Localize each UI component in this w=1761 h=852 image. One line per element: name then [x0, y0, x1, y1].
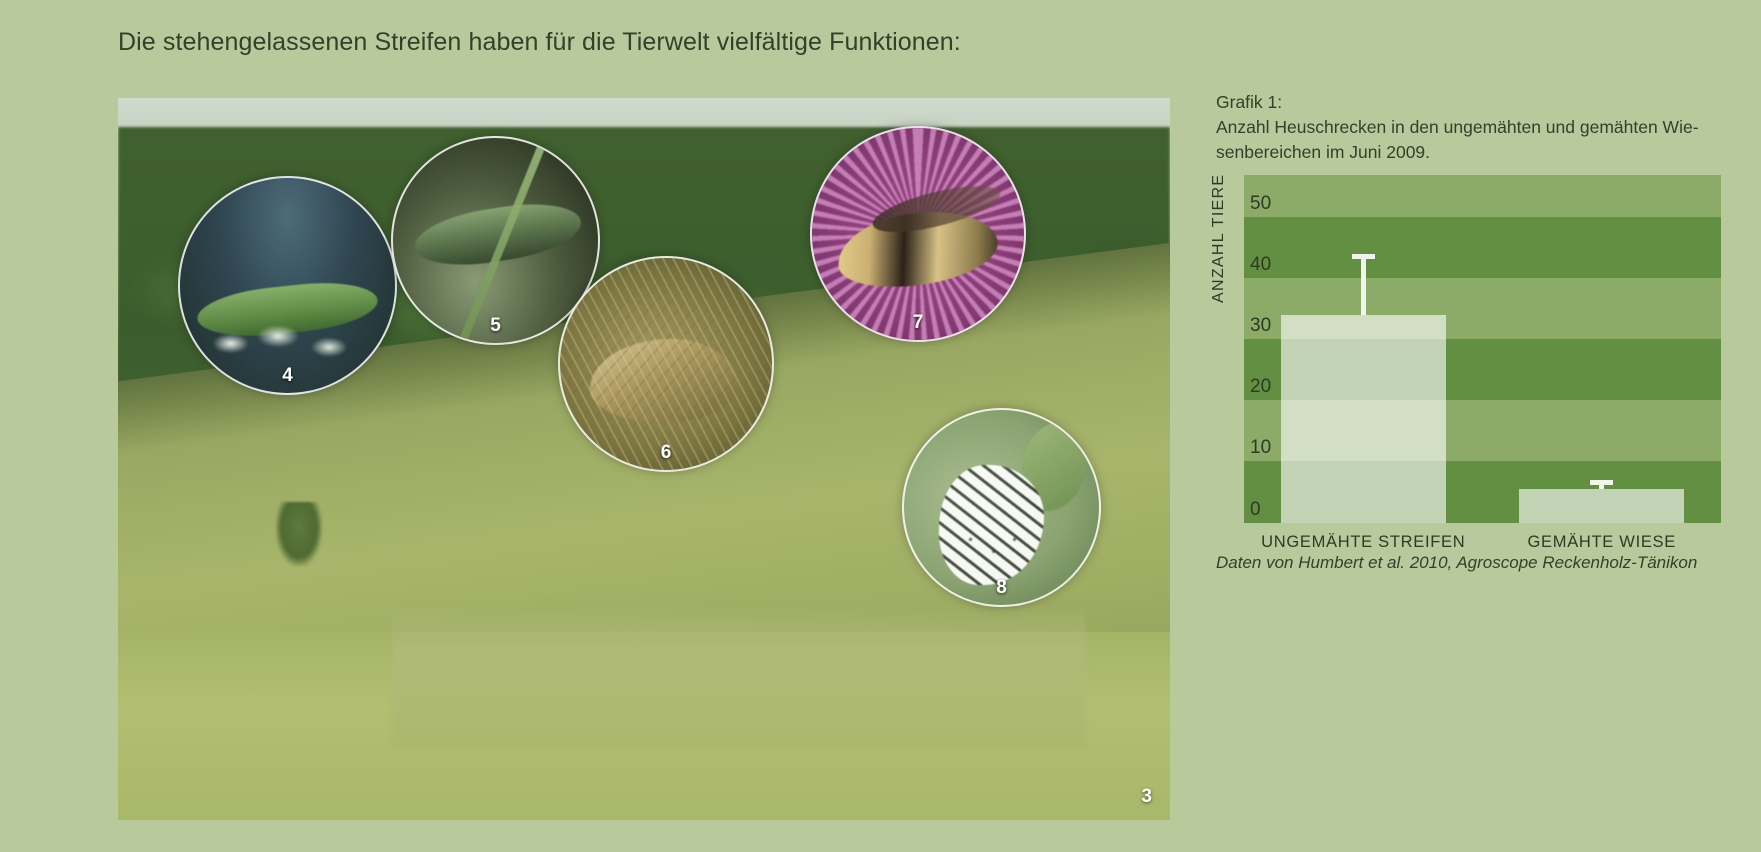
- chart-caption-label: Grafik 1:: [1216, 92, 1282, 112]
- error-bar-cap-2: [1590, 480, 1613, 485]
- callout-number: 8: [904, 577, 1099, 599]
- y-axis-tick-20: 20: [1250, 376, 1271, 398]
- plot-area: [1244, 175, 1721, 523]
- dry-grass-texture: [560, 258, 772, 470]
- error-bar-1: [1361, 254, 1366, 315]
- y-axis-tick-30: 30: [1250, 315, 1271, 337]
- y-axis-tick-40: 40: [1250, 254, 1271, 276]
- uncut-grass-strip: [392, 603, 1086, 747]
- y-axis-tick-10: 10: [1250, 437, 1271, 459]
- chart-figure: ANZAHL TIERE UNGEMÄHTE STREIFENGEMÄHTE W…: [1216, 175, 1721, 580]
- grid-band: [1244, 175, 1721, 218]
- chart-caption-text: Anzahl Heuschrecken in den ungemähten un…: [1216, 117, 1699, 162]
- marbled-white-butterfly-icon: [939, 465, 1044, 586]
- y-axis-label: ANZAHL TIERE: [1210, 173, 1228, 302]
- y-axis-tick-0: 0: [1250, 499, 1261, 521]
- y-axis-tick-50: 50: [1250, 193, 1271, 215]
- callout-number: 4: [180, 365, 395, 387]
- callout-circle-bumblebee: 7: [810, 126, 1026, 342]
- category-label-1: UNGEMÄHTE STREIFEN: [1244, 533, 1483, 552]
- error-bar-cap-1: [1352, 254, 1375, 259]
- callout-circle-grasshopper: 4: [178, 176, 397, 395]
- chart-panel: Grafik 1: Anzahl Heuschrecken in den ung…: [1216, 90, 1721, 580]
- category-label-2: GEMÄHTE WIESE: [1483, 533, 1722, 552]
- bar-2: [1519, 489, 1684, 523]
- small-tree: [276, 502, 322, 566]
- meadow-photo: 4 5 6 7 8 3: [118, 98, 1170, 820]
- callout-circle-butterfly: 8: [902, 408, 1101, 607]
- page-title: Die stehengelassenen Streifen haben für …: [118, 28, 961, 57]
- chart-caption: Grafik 1: Anzahl Heuschrecken in den ung…: [1216, 90, 1721, 165]
- bar-1: [1281, 315, 1446, 523]
- grid-band: [1244, 217, 1721, 278]
- callout-circle-bird-nest: 6: [558, 256, 774, 472]
- chart-source-note: Daten von Humbert et al. 2010, Agroscope…: [1216, 553, 1697, 573]
- callout-number: 7: [812, 312, 1024, 334]
- callout-number: 6: [560, 442, 772, 464]
- figure-number: 3: [1141, 786, 1152, 808]
